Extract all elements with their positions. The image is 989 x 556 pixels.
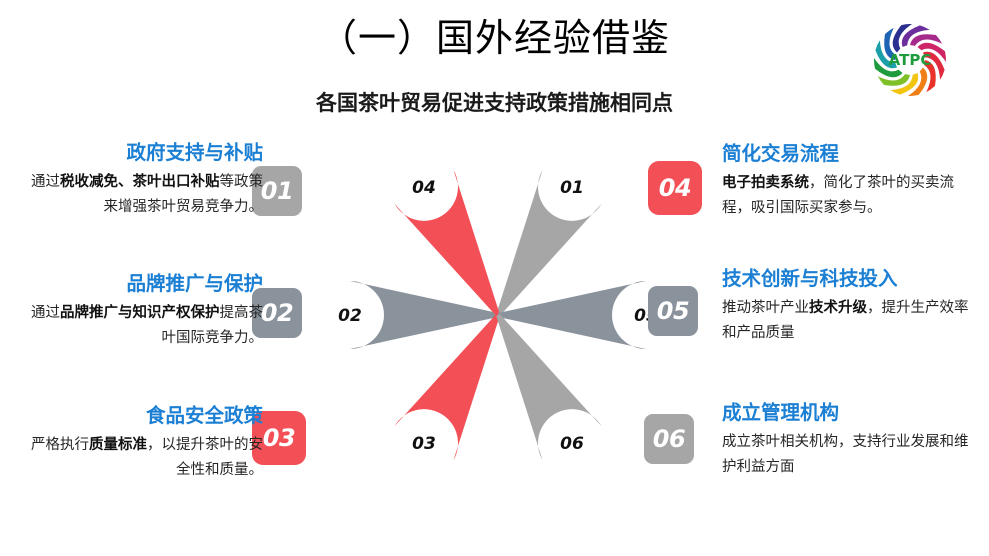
slide-canvas: （一）国外经验借鉴 各国茶叶贸易促进支持政策措施相同点 ATPC 0102030…: [0, 0, 989, 556]
block-heading-02: 品牌推广与保护: [18, 271, 263, 297]
atpc-logo-icon: ATPC: [866, 16, 954, 104]
block-heading-01: 政府支持与补贴: [18, 140, 263, 166]
pinwheel-label-06: 06: [560, 434, 584, 454]
block-body-02: 通过品牌推广与知识产权保护提高茶叶国际竞争力。: [18, 301, 263, 351]
page-subtitle: 各国茶叶贸易促进支持政策措施相同点: [0, 88, 989, 118]
atpc-logo: ATPC: [866, 16, 954, 104]
badge-06[interactable]: 06: [644, 414, 694, 464]
pinwheel-label-04: 04: [412, 178, 436, 198]
pinwheel-label-03: 03: [412, 434, 436, 454]
badge-05[interactable]: 05: [648, 286, 698, 336]
content-block-03: 食品安全政策 严格执行质量标准，以提升茶叶的安全性和质量。: [18, 403, 263, 483]
block-body-05: 推动茶叶产业技术升级，提升生产效率和产品质量: [722, 296, 980, 346]
block-heading-03: 食品安全政策: [18, 403, 263, 429]
block-body-04: 电子拍卖系统，简化了茶叶的买卖流程，吸引国际买家参与。: [722, 171, 980, 221]
content-block-01: 政府支持与补贴 通过税收减免、茶叶出口补贴等政策来增强茶叶贸易竞争力。: [18, 140, 263, 220]
block-body-01: 通过税收减免、茶叶出口补贴等政策来增强茶叶贸易竞争力。: [18, 170, 263, 220]
pinwheel-diagram: 010203040506: [318, 150, 678, 480]
block-heading-05: 技术创新与科技投入: [722, 266, 980, 292]
pinwheel-label-01: 01: [560, 178, 584, 198]
content-block-02: 品牌推广与保护 通过品牌推广与知识产权保护提高茶叶国际竞争力。: [18, 271, 263, 351]
block-heading-04: 简化交易流程: [722, 141, 980, 167]
pinwheel-label-02: 02: [338, 306, 362, 326]
content-block-05: 技术创新与科技投入 推动茶叶产业技术升级，提升生产效率和产品质量: [722, 266, 980, 346]
atpc-logo-text: ATPC: [889, 51, 932, 69]
block-body-03: 严格执行质量标准，以提升茶叶的安全性和质量。: [18, 433, 263, 483]
block-body-06: 成立茶叶相关机构，支持行业发展和维护利益方面: [722, 430, 980, 480]
content-block-04: 简化交易流程 电子拍卖系统，简化了茶叶的买卖流程，吸引国际买家参与。: [722, 141, 980, 221]
badge-04[interactable]: 04: [648, 161, 702, 215]
content-block-06: 成立管理机构 成立茶叶相关机构，支持行业发展和维护利益方面: [722, 400, 980, 480]
block-heading-06: 成立管理机构: [722, 400, 980, 426]
page-title: （一）国外经验借鉴: [0, 12, 989, 64]
